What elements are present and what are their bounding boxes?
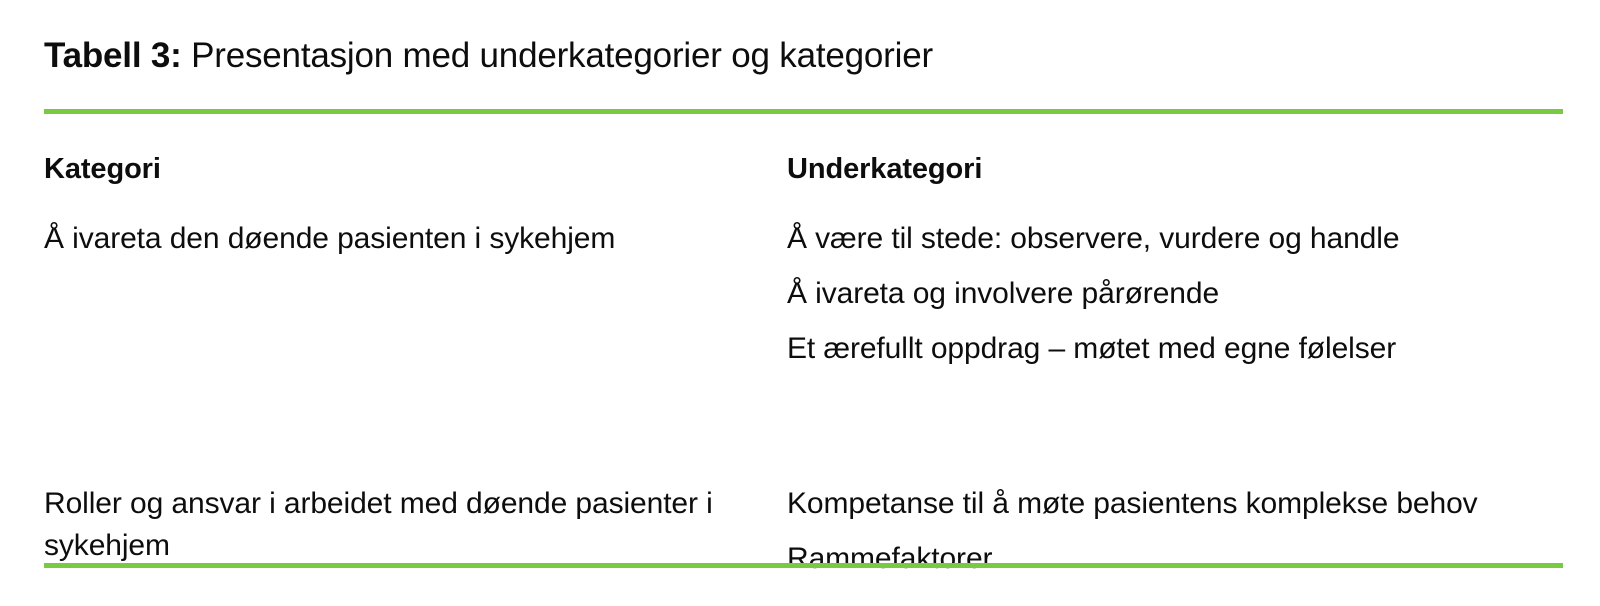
table-top-rule (44, 109, 1563, 114)
table-page: Tabell 3: Presentasjon med underkategori… (0, 0, 1600, 606)
list-item: Et ærefullt oppdrag – møtet med egne føl… (787, 328, 1563, 370)
table-caption: Tabell 3: Presentasjon med underkategori… (44, 34, 1524, 78)
table-cell-kategori: Roller og ansvar i arbeidet med døende p… (44, 483, 787, 567)
table-cell-underkategori: Å være til stede: observere, vurdere og … (787, 218, 1563, 370)
underkategori-list: Å være til stede: observere, vurdere og … (787, 218, 1563, 370)
list-item: Å være til stede: observere, vurdere og … (787, 218, 1563, 260)
list-item: Rammefaktorer (787, 538, 1563, 580)
kategori-text: Å ivareta den døende pasienten i sykehje… (44, 218, 763, 260)
kategori-text: Roller og ansvar i arbeidet med døende p… (44, 483, 763, 567)
caption-label: Tabell 3: (44, 36, 182, 75)
table-bottom-rule (44, 563, 1563, 568)
caption-text: Presentasjon med underkategorier og kate… (182, 36, 933, 75)
list-item: Å ivareta og involvere pårørende (787, 273, 1563, 315)
column-header-underkategori-label: Underkategori (787, 150, 1563, 188)
column-header-underkategori: Underkategori (787, 150, 1563, 188)
column-header-kategori: Kategori (44, 150, 787, 188)
table-cell-kategori: Å ivareta den døende pasienten i sykehje… (44, 218, 787, 260)
table-header-row: Kategori Underkategori (44, 150, 1563, 188)
table-row: Å ivareta den døende pasienten i sykehje… (44, 218, 1563, 370)
categories-table: Kategori Underkategori Å ivareta den døe… (44, 150, 1563, 580)
column-header-kategori-label: Kategori (44, 150, 763, 188)
list-item: Kompetanse til å møte pasientens komplek… (787, 483, 1563, 525)
